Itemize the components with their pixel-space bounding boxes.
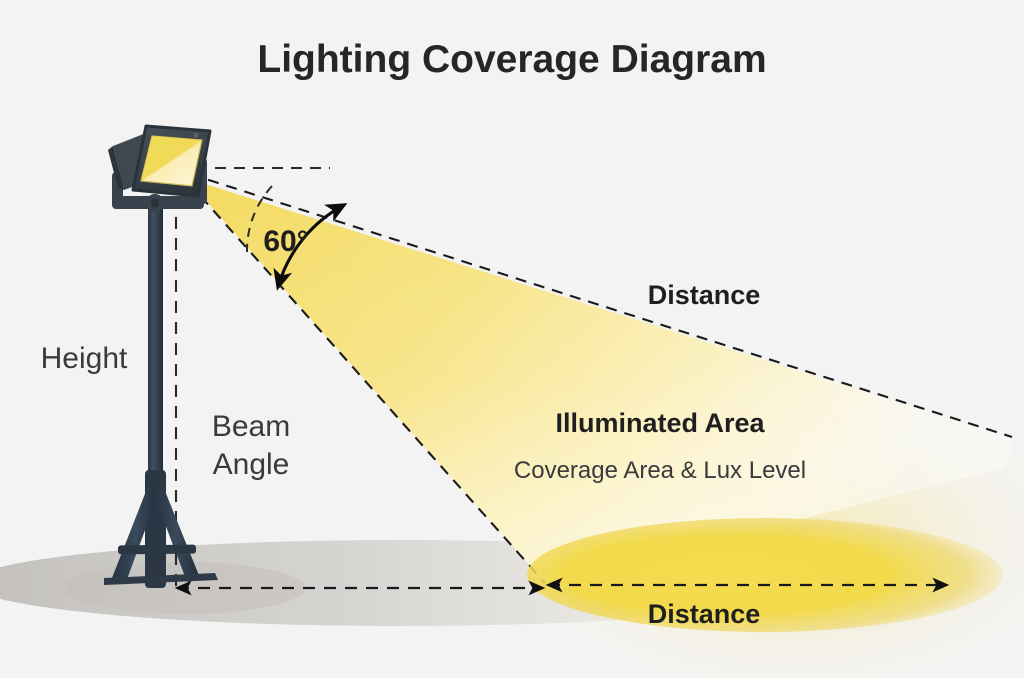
height-label: Height — [41, 342, 128, 375]
distance-top-label: Distance — [648, 280, 761, 310]
illuminated-area-label: Illuminated Area — [555, 408, 765, 438]
distance-bottom-label: Distance — [648, 599, 761, 629]
diagram-canvas: Lighting Coverage Diagram Height Beam An… — [0, 0, 1024, 678]
beam-angle-label-line1: Beam — [212, 410, 290, 443]
illuminated-area-subtitle: Coverage Area & Lux Level — [514, 457, 806, 484]
illuminated-ground-pool — [527, 518, 1003, 632]
fixture-screw — [194, 133, 199, 138]
angle-value-label: 60° — [263, 225, 308, 258]
page-title: Lighting Coverage Diagram — [257, 38, 766, 81]
beam-angle-label-line2: Angle — [213, 448, 290, 481]
lighting-diagram: Lighting Coverage Diagram Height Beam An… — [0, 0, 1024, 678]
